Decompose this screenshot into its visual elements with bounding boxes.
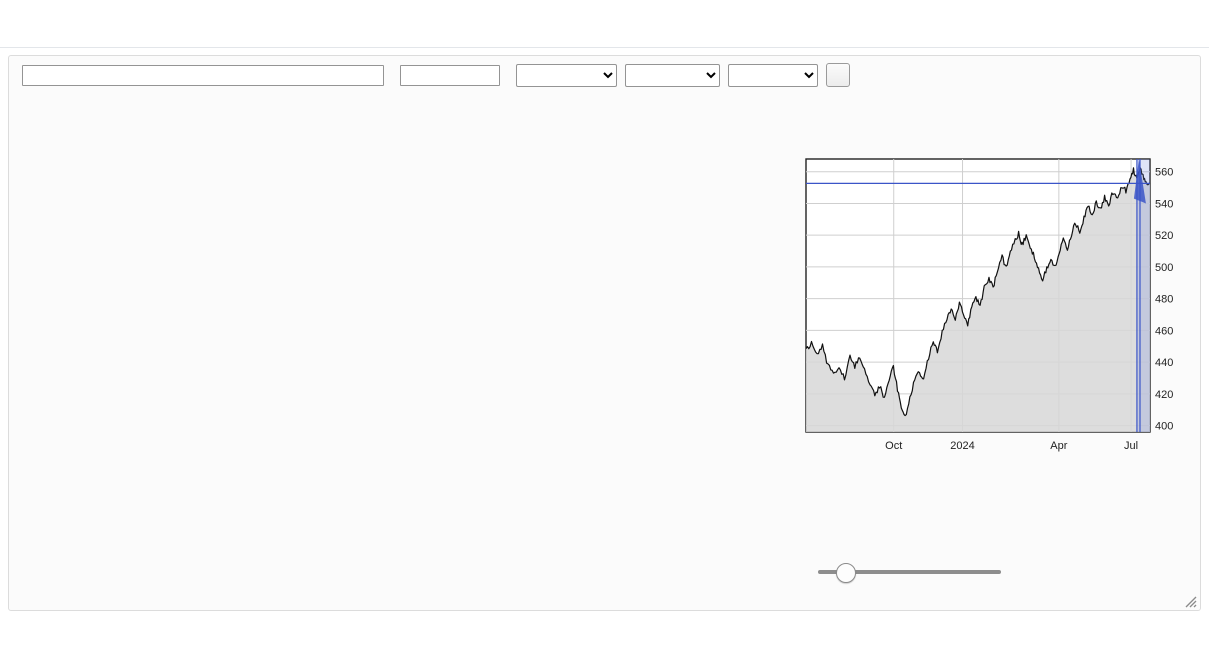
spy-x-tick-label: 2024 (950, 440, 974, 452)
title-divider (0, 47, 1209, 48)
resize-grip-icon[interactable] (1182, 593, 1197, 608)
page-title (0, 0, 1209, 47)
spy-x-tick-label: Apr (1050, 440, 1067, 452)
spy-x-tick-label: Jul (1124, 440, 1138, 452)
spy-y-tick-label: 520 (1155, 230, 1173, 242)
spy-y-tick-label: 440 (1155, 357, 1173, 369)
spy-y-tick-label: 400 (1155, 421, 1173, 433)
rrg-svg[interactable] (9, 94, 809, 612)
slider-thumb[interactable] (836, 563, 856, 583)
spy-y-tick-label: 500 (1155, 262, 1173, 274)
spy-y-tick-label: 420 (1155, 389, 1173, 401)
frequency-select[interactable] (728, 64, 818, 87)
tail-length-row (809, 559, 1202, 585)
rrg-panel: 400420440460480500520540560Oct2024AprJul (8, 55, 1201, 611)
spy-svg[interactable]: 400420440460480500520540560Oct2024AprJul (802, 155, 1202, 455)
spy-y-tick-label: 460 (1155, 325, 1173, 337)
benchmark-input[interactable] (400, 65, 500, 86)
chart-button-row (824, 599, 1194, 629)
spy-y-tick-label: 480 (1155, 294, 1173, 306)
update-button[interactable] (826, 63, 850, 87)
spy-y-tick-label: 560 (1155, 167, 1173, 179)
period-select[interactable] (625, 64, 720, 87)
spy-y-tick-label: 540 (1155, 198, 1173, 210)
tail-length-slider[interactable] (818, 563, 1001, 581)
rrg-plot[interactable] (9, 94, 809, 612)
spy-mini-chart[interactable]: 400420440460480500520540560Oct2024AprJul (802, 155, 1202, 455)
symbols-input[interactable] (22, 65, 384, 86)
toolbar (9, 56, 1202, 94)
groups-select[interactable] (516, 64, 617, 87)
spy-x-tick-label: Oct (885, 440, 902, 452)
